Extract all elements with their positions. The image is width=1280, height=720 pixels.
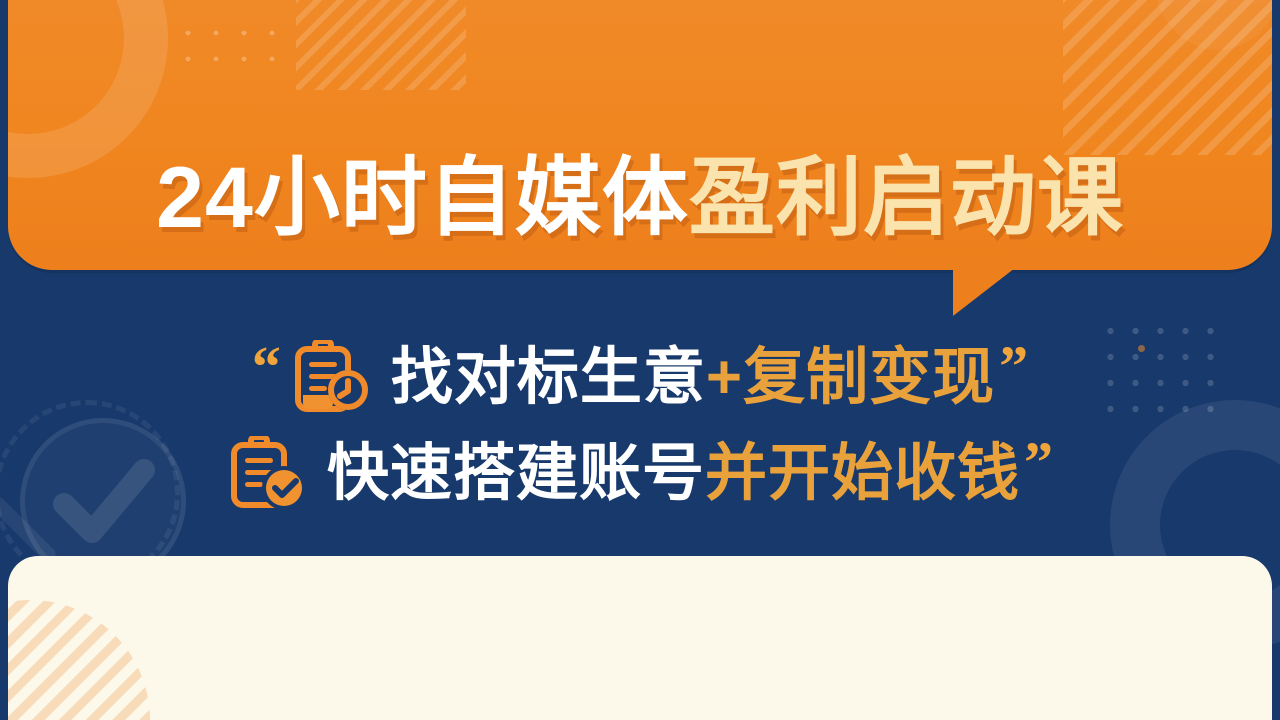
promo-poster: 24小时自媒体盈利启动课 “: [0, 0, 1280, 720]
quote-close-mark-1: ”: [999, 361, 1028, 373]
header-ring-decoration: [8, 0, 168, 178]
card-striped-circle-decoration: [8, 600, 150, 720]
clipboard-check-icon: [227, 436, 309, 512]
headline-row-1-gold: +复制变现: [706, 343, 995, 412]
headline-row-1-text: 找对标生意+复制变现: [391, 347, 995, 409]
headline-row-2-white: 快速搭建账号: [327, 439, 705, 508]
headline-row-2-gold: 并开始收钱: [705, 439, 1020, 508]
quote-close-mark-2: ”: [1024, 457, 1053, 469]
page-title: 24小时自媒体盈利启动课: [0, 155, 1280, 241]
page-title-accent: 盈利启动课: [689, 150, 1124, 246]
quote-open-mark: “: [252, 361, 281, 373]
header-diagonal-stripes-right: [1063, 0, 1272, 155]
headline-row-1: “ 找对标生意+复制变现 ”: [0, 330, 1280, 426]
header-dot-grid: [174, 20, 294, 72]
clipboard-clock-icon: [291, 340, 373, 416]
headline-list: “ 找对标生意+复制变现 ”: [0, 330, 1280, 522]
headline-row-2: 快速搭建账号并开始收钱 ”: [0, 426, 1280, 522]
speech-bubble-tail: [953, 268, 1015, 316]
headline-row-1-white: 找对标生意: [391, 343, 706, 412]
page-title-primary: 24小时自媒体: [156, 150, 689, 246]
headline-row-2-text: 快速搭建账号并开始收钱: [327, 443, 1020, 505]
header-diagonal-stripes-left: [296, 0, 466, 90]
bottom-content-card: [8, 556, 1272, 720]
